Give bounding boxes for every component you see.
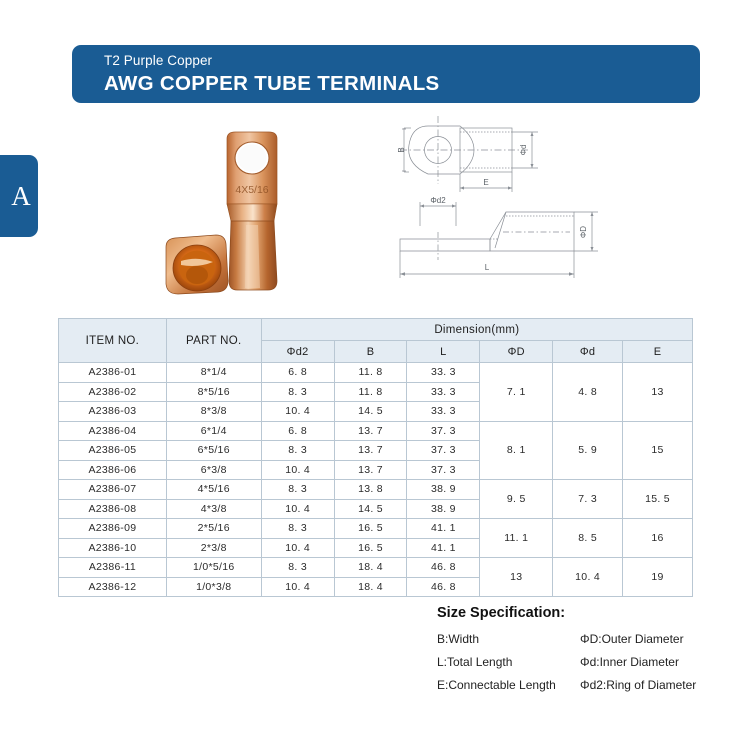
cell-b: 18. 4 [334,558,407,578]
cell-phi-D: 8. 1 [480,421,553,480]
table-row: A2386-092*5/168. 316. 541. 111. 18. 516 [59,519,693,539]
cell-item-no: A2386-02 [59,382,167,402]
cell-l: 41. 1 [407,538,480,558]
cell-part-no: 6*1/4 [166,421,261,441]
table-body: A2386-018*1/46. 811. 833. 37. 14. 813A23… [59,363,693,597]
cell-b: 11. 8 [334,363,407,383]
cell-l: 33. 3 [407,363,480,383]
label-E: E [483,178,488,187]
cell-part-no: 1/0*3/8 [166,577,261,597]
legend-title: Size Specification: [437,605,737,621]
size-specification-legend: Size Specification: B:WidthΦD:Outer Diam… [437,605,737,701]
technical-drawings-svg: B E Φd [398,108,698,298]
cell-part-no: 6*3/8 [166,460,261,480]
cell-l: 33. 3 [407,402,480,422]
cell-l: 33. 3 [407,382,480,402]
cell-l: 46. 8 [407,558,480,578]
cell-d2: 10. 4 [261,402,334,422]
header-phi-d2: Φd2 [261,341,334,363]
table-row: A2386-018*1/46. 811. 833. 37. 14. 813 [59,363,693,383]
page-title: AWG COPPER TUBE TERMINALS [104,70,700,98]
cell-e: 15. 5 [623,480,693,519]
cell-part-no: 8*3/8 [166,402,261,422]
label-phi-D: ΦD [579,226,588,238]
page-header-banner: T2 Purple Copper AWG COPPER TUBE TERMINA… [72,45,700,103]
legend-entry-right: Φd:Inner Diameter [580,655,679,669]
drawing-side-view: Φd2 L ΦD [400,196,598,278]
cell-e: 15 [623,421,693,480]
cell-phi-d: 7. 3 [553,480,623,519]
cell-part-no: 8*1/4 [166,363,261,383]
cell-d2: 8. 3 [261,519,334,539]
cell-item-no: A2386-05 [59,441,167,461]
terminal-barrel-view [166,235,228,294]
cell-part-no: 8*5/16 [166,382,261,402]
header-part-no: PART NO. [166,319,261,363]
cell-phi-D: 7. 1 [480,363,553,422]
cell-item-no: A2386-06 [59,460,167,480]
cell-part-no: 6*5/16 [166,441,261,461]
cell-phi-d: 4. 8 [553,363,623,422]
legend-entry: B:WidthΦD:Outer Diameter [437,632,737,646]
cell-item-no: A2386-11 [59,558,167,578]
cell-d2: 6. 8 [261,421,334,441]
cell-phi-D: 9. 5 [480,480,553,519]
cell-l: 38. 9 [407,480,480,500]
header-item-no: ITEM NO. [59,319,167,363]
cell-b: 13. 8 [334,480,407,500]
cell-d2: 10. 4 [261,460,334,480]
cell-d2: 8. 3 [261,480,334,500]
cell-b: 16. 5 [334,538,407,558]
cell-d2: 10. 4 [261,577,334,597]
legend-entry-right: Φd2:Ring of Diameter [580,678,696,692]
cell-d2: 10. 4 [261,538,334,558]
header-phi-D: ΦD [480,341,553,363]
cell-item-no: A2386-12 [59,577,167,597]
legend-rows: B:WidthΦD:Outer DiameterL:Total LengthΦd… [437,632,737,692]
cell-b: 14. 5 [334,499,407,519]
label-phi-d: Φd [519,145,528,156]
header-phi-d: Φd [553,341,623,363]
header-b: B [334,341,407,363]
cell-d2: 8. 3 [261,382,334,402]
cell-e: 13 [623,363,693,422]
table-row: A2386-074*5/168. 313. 838. 99. 57. 315. … [59,480,693,500]
cell-item-no: A2386-04 [59,421,167,441]
cell-b: 13. 7 [334,460,407,480]
cell-b: 13. 7 [334,421,407,441]
cell-b: 11. 8 [334,382,407,402]
cell-part-no: 1/0*5/16 [166,558,261,578]
table-row: A2386-046*1/46. 813. 737. 38. 15. 915 [59,421,693,441]
drawing-top-view: B E Φd [398,116,538,192]
cell-part-no: 4*3/8 [166,499,261,519]
cell-l: 41. 1 [407,519,480,539]
header-dimension-group: Dimension(mm) [261,319,692,341]
cell-e: 16 [623,519,693,558]
cell-l: 37. 3 [407,441,480,461]
header-e: E [623,341,693,363]
product-photo: 4X5/16 [150,105,350,305]
cell-part-no: 2*5/16 [166,519,261,539]
cell-item-no: A2386-03 [59,402,167,422]
cell-b: 13. 7 [334,441,407,461]
cell-phi-d: 5. 9 [553,421,623,480]
cell-b: 16. 5 [334,519,407,539]
cell-b: 14. 5 [334,402,407,422]
cell-item-no: A2386-08 [59,499,167,519]
cell-item-no: A2386-09 [59,519,167,539]
cell-part-no: 2*3/8 [166,538,261,558]
label-phi-d2: Φd2 [430,196,446,205]
product-stamp-text: 4X5/16 [235,184,268,196]
label-B: B [398,147,406,152]
terminal-body: 4X5/16 [227,132,277,290]
cell-phi-d: 8. 5 [553,519,623,558]
banner-subtitle: T2 Purple Copper [104,52,700,69]
technical-drawings: B E Φd [398,108,698,298]
index-tab-letter: A [7,183,31,210]
table-row: A2386-111/0*5/168. 318. 446. 81310. 419 [59,558,693,578]
legend-entry-left: B:Width [437,632,580,646]
product-photo-svg: 4X5/16 [150,105,350,305]
cell-l: 37. 3 [407,421,480,441]
cell-item-no: A2386-01 [59,363,167,383]
cell-d2: 8. 3 [261,558,334,578]
section-index-tab: A [0,155,38,237]
cell-l: 46. 8 [407,577,480,597]
legend-entry-right: ΦD:Outer Diameter [580,632,684,646]
label-L: L [485,263,490,272]
cell-item-no: A2386-10 [59,538,167,558]
cell-item-no: A2386-07 [59,480,167,500]
cell-phi-D: 13 [480,558,553,597]
cell-e: 19 [623,558,693,597]
specification-table: ITEM NO. PART NO. Dimension(mm) Φd2 B L … [58,318,693,597]
table-header: ITEM NO. PART NO. Dimension(mm) Φd2 B L … [59,319,693,363]
cell-phi-d: 10. 4 [553,558,623,597]
legend-entry-left: E:Connectable Length [437,678,580,692]
cell-l: 37. 3 [407,460,480,480]
legend-entry-left: L:Total Length [437,655,580,669]
cell-d2: 8. 3 [261,441,334,461]
cell-b: 18. 4 [334,577,407,597]
header-l: L [407,341,480,363]
legend-entry: L:Total LengthΦd:Inner Diameter [437,655,737,669]
cell-part-no: 4*5/16 [166,480,261,500]
cell-d2: 10. 4 [261,499,334,519]
legend-entry: E:Connectable LengthΦd2:Ring of Diameter [437,678,737,692]
cell-d2: 6. 8 [261,363,334,383]
cell-l: 38. 9 [407,499,480,519]
cell-phi-D: 11. 1 [480,519,553,558]
